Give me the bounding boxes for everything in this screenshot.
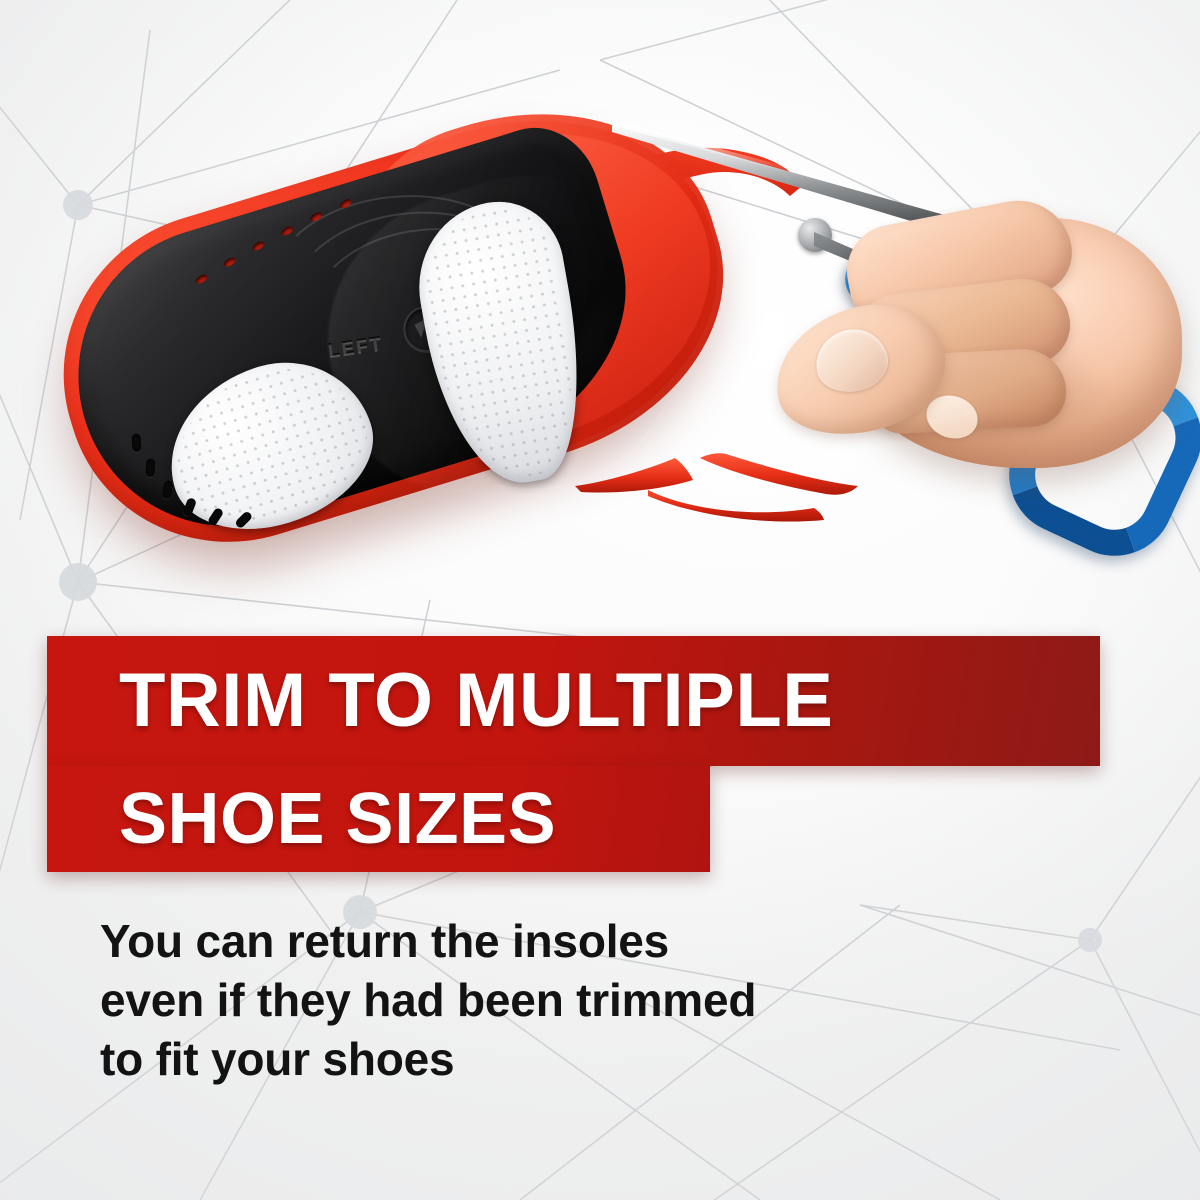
body-copy: You can return the insoles even if they … (100, 912, 980, 1089)
headline-text-line-1: TRIM TO MULTIPLE (119, 663, 833, 739)
headline-banner-line-1: TRIM TO MULTIPLE (47, 636, 1100, 766)
hand-holding-scissors (760, 182, 1200, 512)
headline-text-line-2: SHOE SIZES (119, 783, 556, 855)
body-copy-line-1: You can return the insoles (100, 912, 980, 971)
product-feature-poster: LEFT (0, 0, 1200, 1200)
body-copy-line-3: to fit your shoes (100, 1030, 980, 1089)
vent-hole (251, 240, 266, 253)
vent-hole (194, 273, 209, 286)
side-slot (145, 459, 155, 477)
side-slot (132, 434, 142, 452)
thumb-nail (809, 322, 894, 400)
side-slot (161, 480, 173, 499)
body-copy-line-2: even if they had been trimmed (100, 971, 980, 1030)
headline-banner-line-2: SHOE SIZES (47, 766, 710, 872)
vent-hole (280, 225, 295, 238)
vent-hole (222, 256, 237, 269)
product-photo-area: LEFT (0, 0, 1200, 620)
